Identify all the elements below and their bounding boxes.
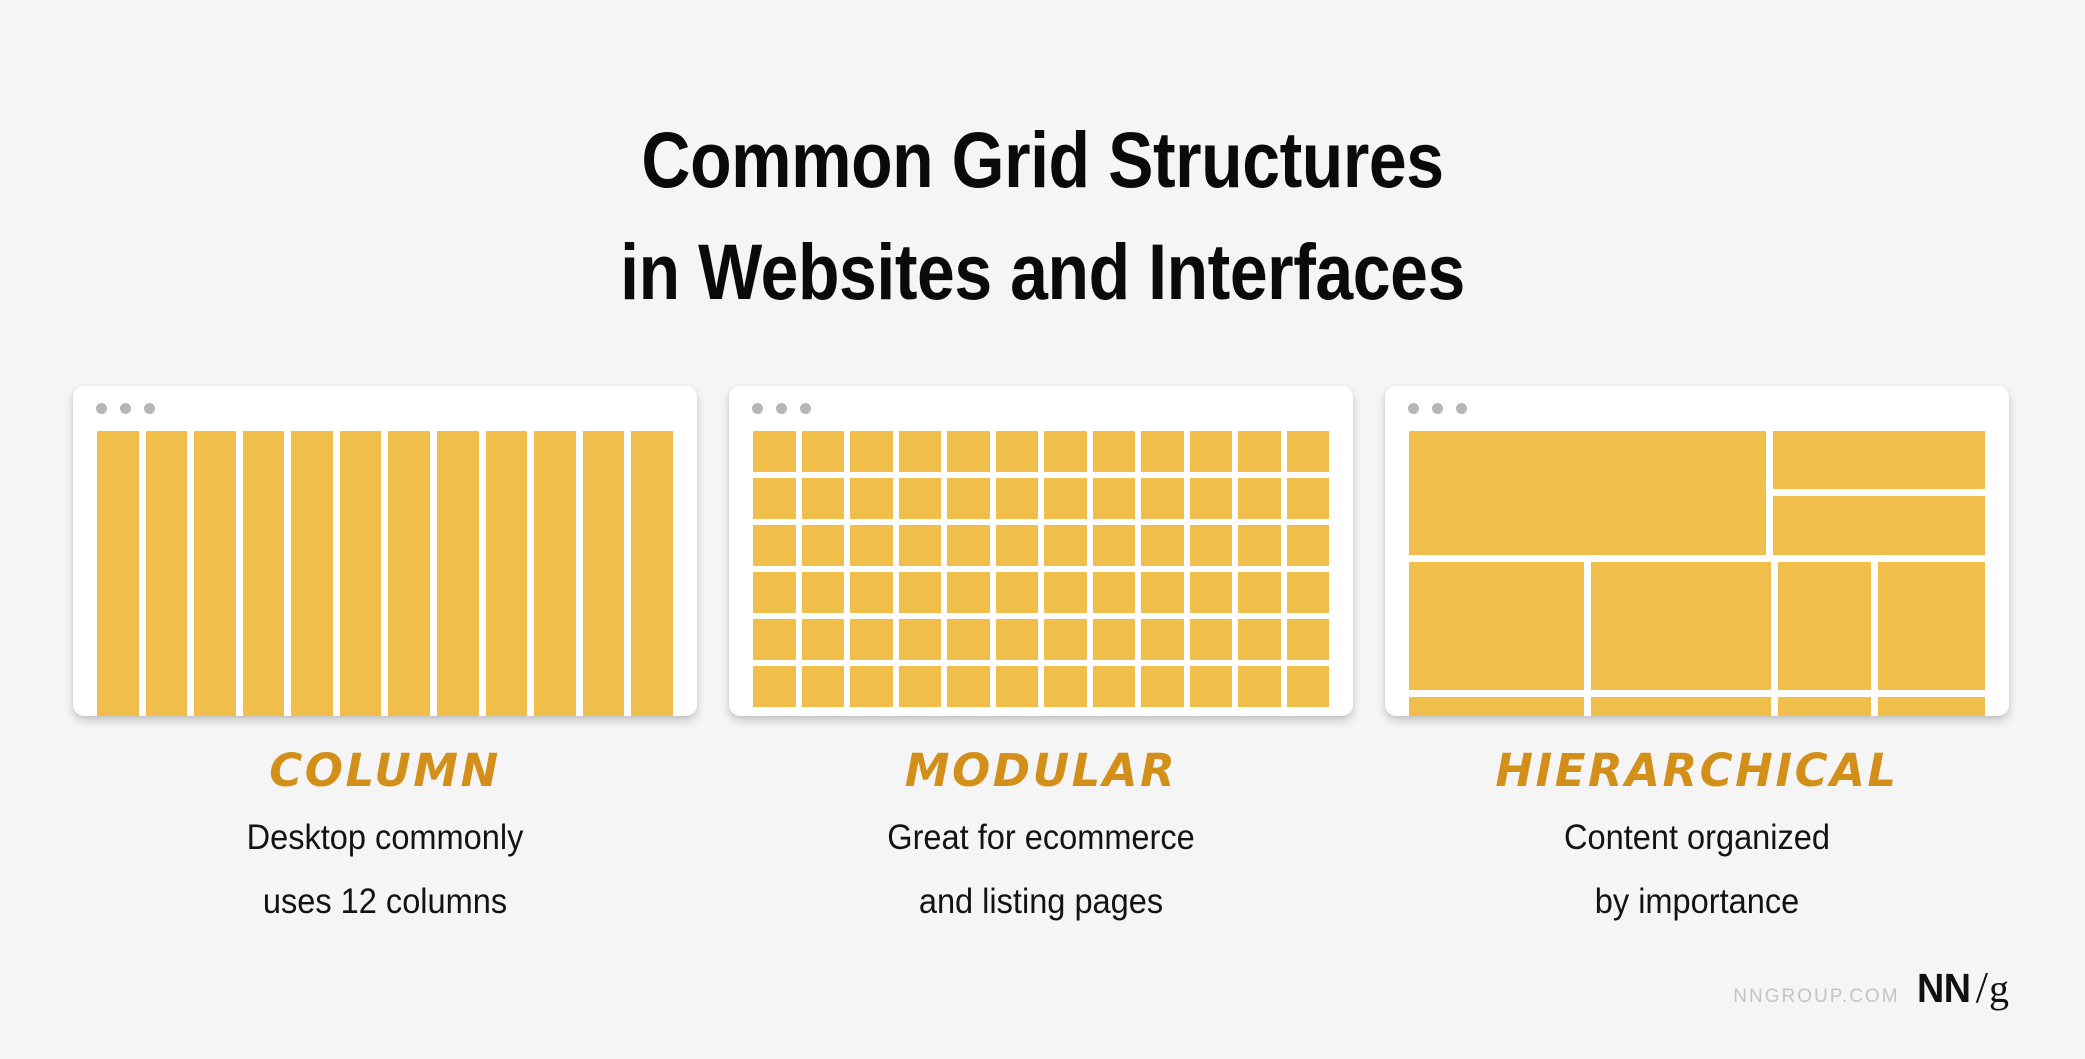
modular-cell xyxy=(947,572,990,613)
modular-cell xyxy=(899,431,942,472)
modular-cell xyxy=(996,619,1039,660)
modular-cell xyxy=(753,478,796,519)
modular-cell xyxy=(1190,666,1233,707)
caption-body-modular-line-1: Great for ecommerce xyxy=(751,812,1331,864)
modular-cell xyxy=(899,666,942,707)
hierarchical-row-2 xyxy=(1409,562,1985,690)
grid-column xyxy=(631,431,673,716)
modular-cell xyxy=(1141,525,1184,566)
window-dot-icon xyxy=(1408,403,1419,414)
grid-column xyxy=(534,431,576,716)
caption-body-modular-line-2: and listing pages xyxy=(751,876,1331,928)
modular-cell xyxy=(1093,525,1136,566)
modular-cell xyxy=(996,478,1039,519)
grid-column xyxy=(194,431,236,716)
hierarchical-row-1 xyxy=(1409,431,1985,555)
modular-cell xyxy=(1238,572,1281,613)
nng-logo-slash: / xyxy=(1976,962,1988,1013)
window-dots-hierarchical xyxy=(1408,403,1467,414)
hierarchical-block-a xyxy=(1409,562,1584,690)
modular-cell xyxy=(753,666,796,707)
nng-logo: NN / g xyxy=(1917,962,2009,1013)
modular-cell xyxy=(1044,619,1087,660)
modular-cell xyxy=(1190,431,1233,472)
modular-grid-canvas xyxy=(753,431,1329,716)
page-title-line-2: in Websites and Interfaces xyxy=(146,216,1939,328)
caption-hierarchical: HIERARCHICAL Content organized by import… xyxy=(1385,742,2009,928)
caption-title-modular: MODULAR xyxy=(729,742,1353,800)
hierarchical-block-h xyxy=(1878,697,1985,716)
hierarchical-block-hero xyxy=(1409,431,1766,555)
nng-logo-g: g xyxy=(1989,965,2009,1012)
modular-cell xyxy=(850,572,893,613)
hierarchical-block-side-top xyxy=(1773,431,1985,489)
window-dot-icon xyxy=(776,403,787,414)
window-dots-column xyxy=(96,403,155,414)
window-dot-icon xyxy=(144,403,155,414)
modular-cell xyxy=(996,431,1039,472)
modular-cell xyxy=(1141,478,1184,519)
modular-cell xyxy=(850,619,893,660)
grid-column xyxy=(97,431,139,716)
browser-card-column xyxy=(73,386,697,716)
modular-cell xyxy=(1141,666,1184,707)
column-grid xyxy=(97,431,673,716)
caption-title-hierarchical: HIERARCHICAL xyxy=(1385,742,2009,800)
modular-cell xyxy=(1093,666,1136,707)
modular-cell xyxy=(753,431,796,472)
modular-cell xyxy=(1044,666,1087,707)
modular-cell xyxy=(1287,572,1330,613)
modular-cell xyxy=(947,666,990,707)
modular-cell xyxy=(802,572,845,613)
hierarchical-block-side-bottom xyxy=(1773,496,1985,555)
modular-cell xyxy=(1093,431,1136,472)
hierarchical-block-f xyxy=(1591,697,1771,716)
caption-modular: MODULAR Great for ecommerce and listing … xyxy=(729,742,1353,928)
modular-cell xyxy=(802,431,845,472)
caption-body-column-line-2: uses 12 columns xyxy=(95,876,675,928)
hierarchical-block-g xyxy=(1778,697,1871,716)
grid-column xyxy=(437,431,479,716)
footer-url: NNGROUP.COM xyxy=(1733,986,1899,1008)
hierarchical-block-c xyxy=(1778,562,1871,690)
grid-column xyxy=(486,431,528,716)
modular-cell xyxy=(1190,619,1233,660)
modular-cell xyxy=(947,619,990,660)
grid-column xyxy=(388,431,430,716)
window-dot-icon xyxy=(752,403,763,414)
window-dot-icon xyxy=(120,403,131,414)
hierarchical-block-d xyxy=(1878,562,1985,690)
hierarchical-row-3 xyxy=(1409,697,1985,716)
caption-title-column: COLUMN xyxy=(73,742,697,800)
modular-cell xyxy=(947,525,990,566)
modular-cell xyxy=(1141,619,1184,660)
modular-cell xyxy=(1093,478,1136,519)
hierarchical-block-e xyxy=(1409,697,1584,716)
modular-cell xyxy=(1287,666,1330,707)
modular-cell xyxy=(1287,478,1330,519)
modular-cell xyxy=(1238,619,1281,660)
modular-cell xyxy=(947,478,990,519)
window-dot-icon xyxy=(96,403,107,414)
modular-cell xyxy=(1238,525,1281,566)
modular-cell xyxy=(1190,525,1233,566)
modular-cell xyxy=(1287,525,1330,566)
modular-cell xyxy=(753,619,796,660)
modular-cell xyxy=(1141,572,1184,613)
modular-cell xyxy=(1287,619,1330,660)
hierarchical-block-b xyxy=(1591,562,1771,690)
modular-cell xyxy=(899,619,942,660)
modular-cell xyxy=(1190,478,1233,519)
grid-examples-row xyxy=(73,386,2009,716)
modular-cell xyxy=(947,431,990,472)
hierarchical-grid-canvas xyxy=(1409,431,1985,716)
modular-cell xyxy=(899,478,942,519)
grid-column xyxy=(243,431,285,716)
modular-cell xyxy=(1044,478,1087,519)
modular-cell xyxy=(850,525,893,566)
modular-cell xyxy=(1287,431,1330,472)
window-dot-icon xyxy=(1456,403,1467,414)
modular-cell xyxy=(753,572,796,613)
modular-cell xyxy=(850,478,893,519)
modular-cell xyxy=(899,525,942,566)
grid-column xyxy=(291,431,333,716)
modular-cell xyxy=(1238,431,1281,472)
modular-cell xyxy=(802,619,845,660)
page-title-line-1: Common Grid Structures xyxy=(146,104,1939,216)
caption-body-column-line-1: Desktop commonly xyxy=(95,812,675,864)
modular-cell xyxy=(899,572,942,613)
caption-column: COLUMN Desktop commonly uses 12 columns xyxy=(73,742,697,928)
caption-body-hierarchical-line-1: Content organized xyxy=(1407,812,1987,864)
modular-cell xyxy=(1190,572,1233,613)
modular-cell xyxy=(1238,666,1281,707)
modular-cell xyxy=(1141,431,1184,472)
caption-body-hierarchical-line-2: by importance xyxy=(1407,876,1987,928)
window-dot-icon xyxy=(800,403,811,414)
modular-cell xyxy=(1044,431,1087,472)
page-title: Common Grid Structures in Websites and I… xyxy=(0,104,2085,328)
modular-cell xyxy=(996,666,1039,707)
hierarchical-grid xyxy=(1409,431,1985,716)
hierarchical-side-stack xyxy=(1773,431,1985,555)
nng-logo-nn: NN xyxy=(1917,965,1971,1012)
modular-cell xyxy=(996,572,1039,613)
grid-column xyxy=(146,431,188,716)
modular-cell xyxy=(802,666,845,707)
modular-cell xyxy=(1093,619,1136,660)
modular-cell xyxy=(802,525,845,566)
modular-cell xyxy=(1238,478,1281,519)
browser-card-modular xyxy=(729,386,1353,716)
modular-cell xyxy=(753,525,796,566)
modular-grid xyxy=(753,431,1329,707)
footer-branding: NNGROUP.COM NN / g xyxy=(1733,962,2009,1013)
modular-cell xyxy=(850,666,893,707)
modular-cell xyxy=(996,525,1039,566)
modular-cell xyxy=(802,478,845,519)
modular-cell xyxy=(850,431,893,472)
modular-cell xyxy=(1044,525,1087,566)
modular-cell xyxy=(1044,572,1087,613)
browser-card-hierarchical xyxy=(1385,386,2009,716)
column-grid-canvas xyxy=(97,431,673,716)
modular-cell xyxy=(1093,572,1136,613)
grid-column xyxy=(340,431,382,716)
grid-column xyxy=(583,431,625,716)
window-dots-modular xyxy=(752,403,811,414)
captions-row: COLUMN Desktop commonly uses 12 columns … xyxy=(73,742,2009,928)
window-dot-icon xyxy=(1432,403,1443,414)
